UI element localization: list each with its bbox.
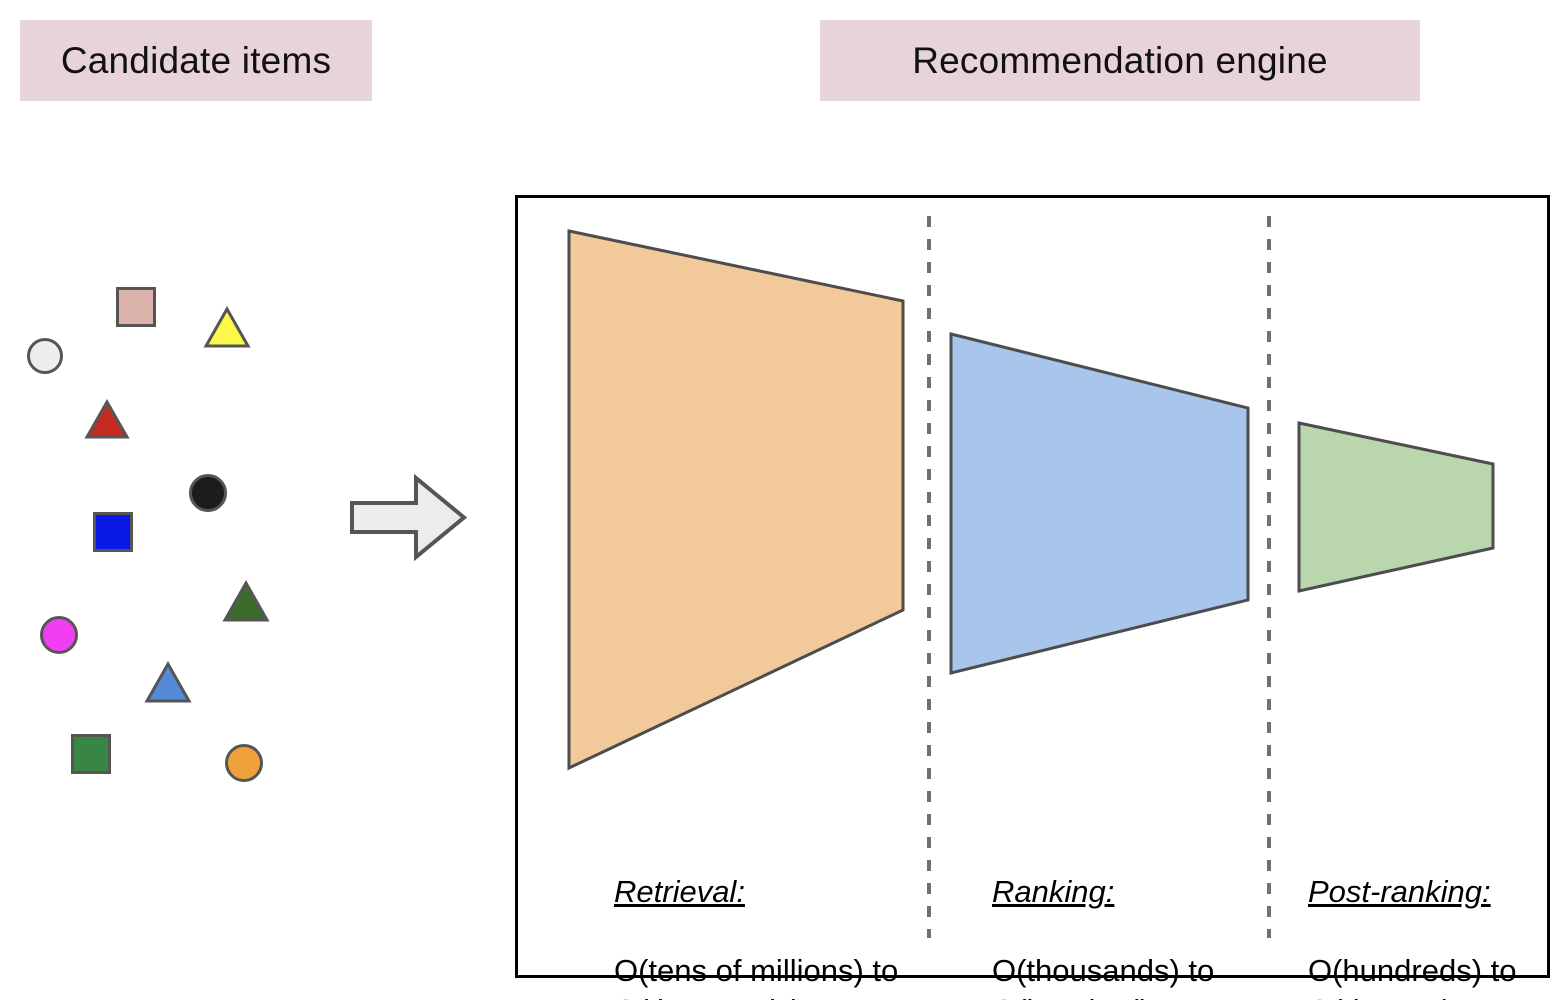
candidate-items-label: Candidate items — [61, 42, 331, 79]
orange-circle — [225, 744, 263, 782]
rose-square — [116, 287, 156, 327]
diagram-canvas: Candidate items Recommendation engine Re… — [0, 0, 1568, 1000]
black-circle — [189, 474, 227, 512]
candidate-items-banner: Candidate items — [20, 20, 372, 101]
stage-body-retrieval: O(tens of millions) to O(thousands) — [614, 951, 914, 1000]
recommendation-engine-label: Recommendation engine — [912, 42, 1328, 79]
recommendation-engine-banner: Recommendation engine — [820, 20, 1420, 101]
recommendation-engine-box: Retrieval: O(tens of millions) to O(thou… — [515, 195, 1550, 978]
blue-square — [93, 512, 133, 552]
magenta-circle — [40, 616, 78, 654]
funnel-stage-ranking — [951, 334, 1248, 673]
flow-arrow-icon — [348, 470, 468, 565]
stage-body-ranking: O(thousands) to O(hundred) — [992, 951, 1262, 1000]
dark-green-triangle — [222, 580, 270, 623]
red-triangle — [84, 399, 130, 440]
stage-body-post-ranking: O(hundreds) to O(dozens) — [1308, 951, 1558, 1000]
light-gray-circle — [27, 338, 63, 374]
stage-caption-post-ranking: Post-ranking: O(hundreds) to O(dozens) — [1308, 832, 1558, 1000]
green-square — [71, 734, 111, 774]
funnel-stage-retrieval — [569, 231, 903, 768]
blue-triangle — [144, 661, 192, 704]
funnel-stage-post-ranking — [1299, 423, 1493, 591]
stage-caption-retrieval: Retrieval: O(tens of millions) to O(thou… — [614, 832, 914, 1000]
stage-title-post-ranking: Post-ranking: — [1308, 872, 1558, 912]
candidate-items-field — [0, 150, 340, 830]
yellow-triangle — [203, 306, 251, 349]
stage-title-retrieval: Retrieval: — [614, 872, 914, 912]
stage-title-ranking: Ranking: — [992, 872, 1262, 912]
stage-caption-ranking: Ranking: O(thousands) to O(hundred) — [992, 832, 1262, 1000]
